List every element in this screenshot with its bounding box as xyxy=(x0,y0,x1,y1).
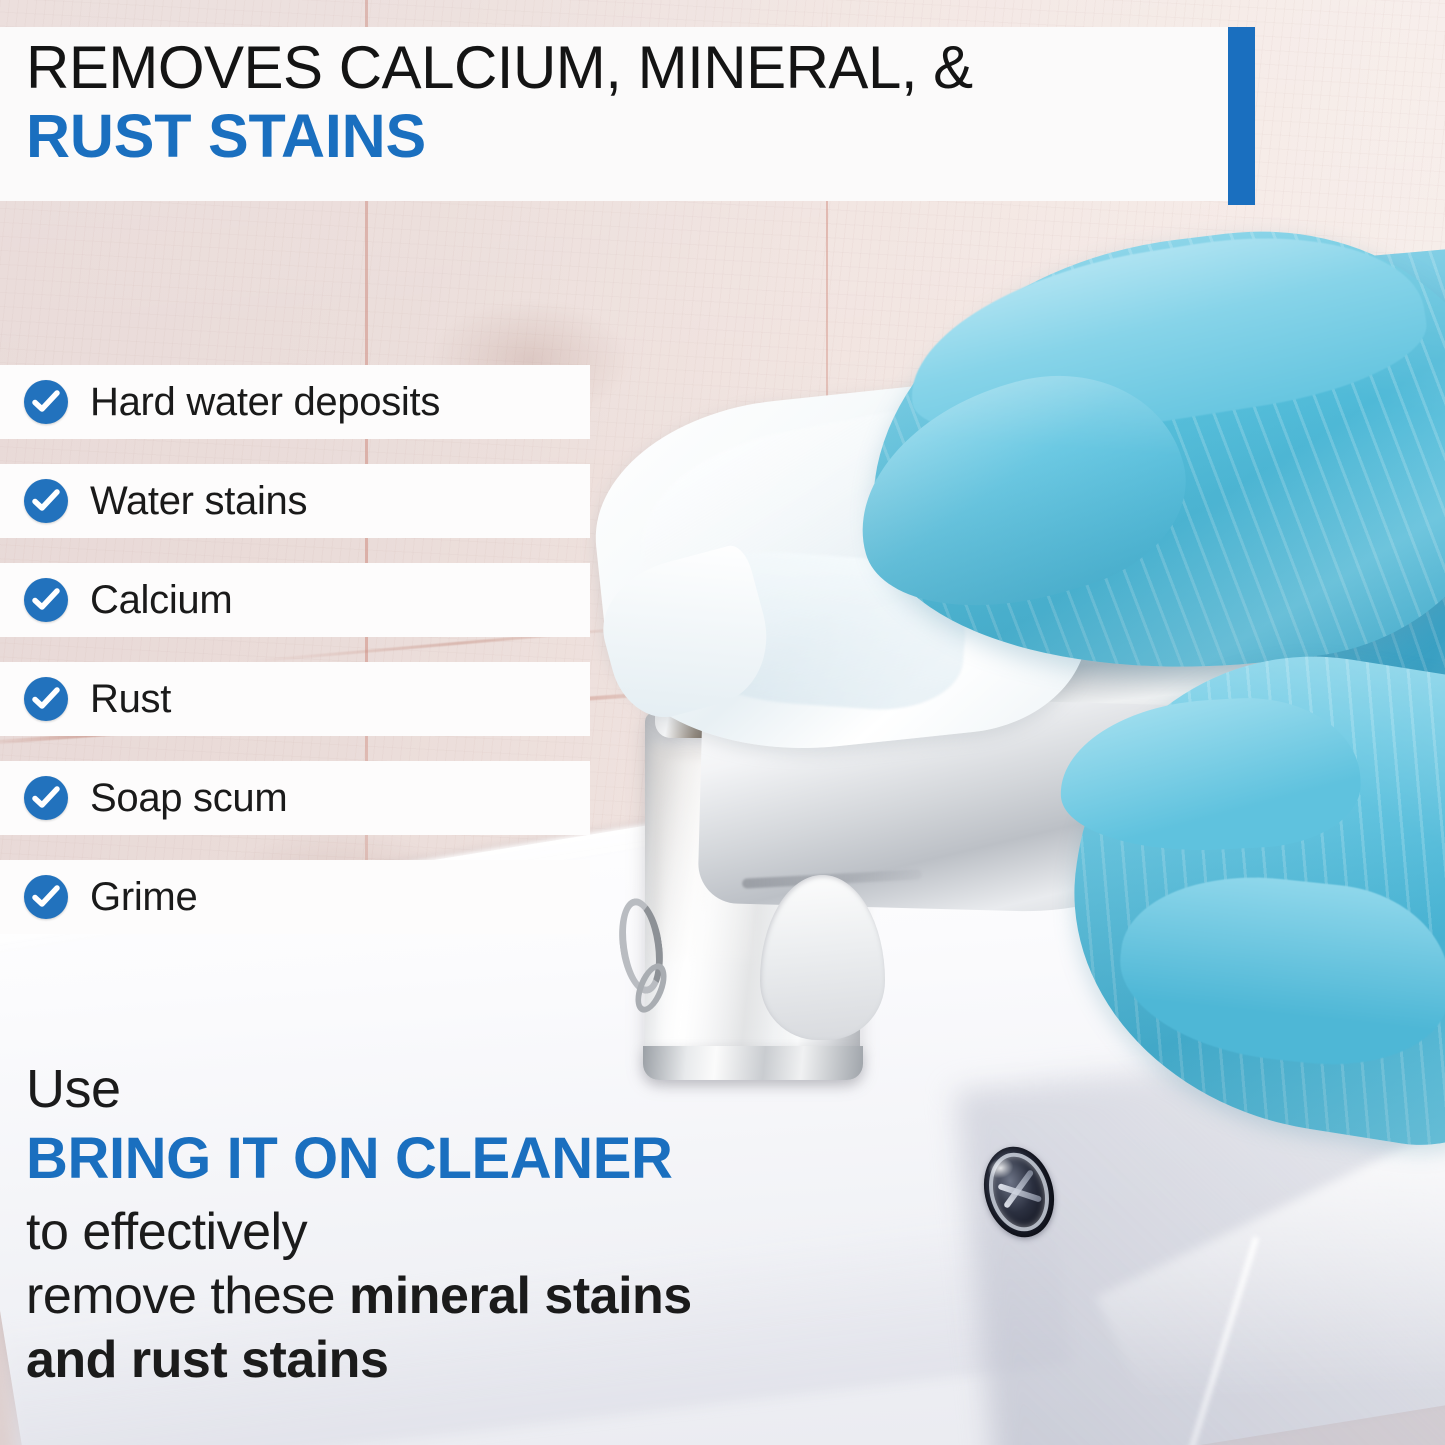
list-item-label: Water stains xyxy=(90,479,307,524)
list-item-label: Hard water deposits xyxy=(90,380,440,425)
check-circle-icon xyxy=(24,776,68,820)
list-item-label: Grime xyxy=(90,875,197,920)
copy-line-3: remove these mineral stains xyxy=(26,1270,926,1322)
bottom-copy-block: Use BRING IT ON CLEANER to effectively r… xyxy=(26,1062,926,1398)
list-item: Calcium xyxy=(0,563,590,637)
list-item: Rust xyxy=(0,662,590,736)
headline-accent-bar xyxy=(1228,27,1255,205)
check-circle-icon xyxy=(24,578,68,622)
product-infographic: REMOVES CALCIUM, MINERAL, & RUST STAINS … xyxy=(0,0,1445,1445)
headline-line-1: REMOVES CALCIUM, MINERAL, & xyxy=(26,33,1228,104)
check-circle-icon xyxy=(24,380,68,424)
check-circle-icon xyxy=(24,677,68,721)
copy-use: Use xyxy=(26,1062,926,1116)
check-circle-icon xyxy=(24,479,68,523)
copy-line-3-strong: mineral stains xyxy=(349,1267,692,1325)
list-item: Water stains xyxy=(0,464,590,538)
list-item-label: Soap scum xyxy=(90,776,287,821)
list-item-label: Rust xyxy=(90,677,171,722)
list-item: Grime xyxy=(0,860,590,934)
copy-line-3-light: remove these xyxy=(26,1267,349,1325)
copy-line-4: and rust stains xyxy=(26,1334,926,1386)
list-item-label: Calcium xyxy=(90,578,232,623)
list-item: Soap scum xyxy=(0,761,590,835)
headline-line-2: RUST STAINS xyxy=(26,104,1228,169)
list-item: Hard water deposits xyxy=(0,365,590,439)
headline-panel: REMOVES CALCIUM, MINERAL, & RUST STAINS xyxy=(0,27,1228,201)
benefits-checklist: Hard water deposits Water stains Calcium… xyxy=(0,365,590,959)
copy-line-2: to effectively xyxy=(26,1206,926,1258)
check-circle-icon xyxy=(24,875,68,919)
product-brand-name: BRING IT ON CLEANER xyxy=(26,1130,926,1188)
